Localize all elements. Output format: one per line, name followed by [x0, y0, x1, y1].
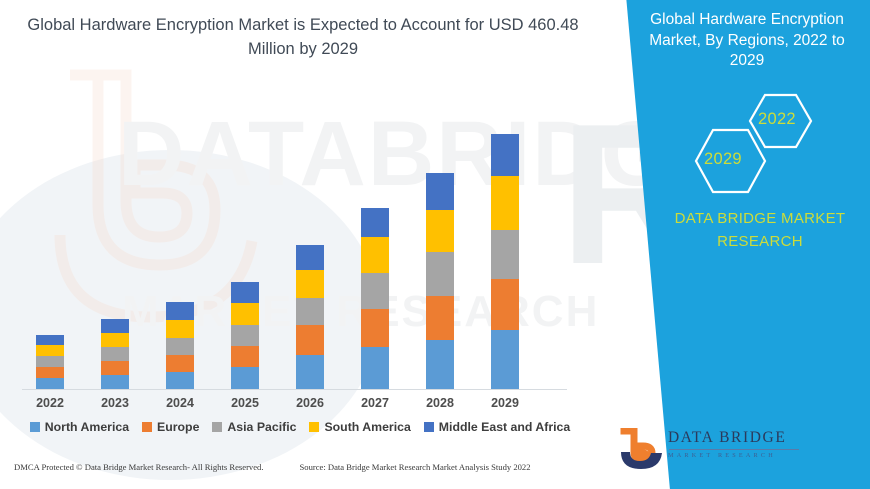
panel-title: Global Hardware Encryption Market, By Re… [632, 10, 862, 72]
bar-segment-2025-middle-east-and-africa[interactable] [231, 282, 259, 303]
bar-segment-2028-middle-east-and-africa[interactable] [426, 173, 454, 210]
bar-segment-2028-south-america[interactable] [426, 210, 454, 252]
chart-plot-area: 2022 2023 2024 2025 2026 2027 2028 2029 [0, 0, 600, 489]
bar-segment-2029-europe[interactable] [491, 279, 519, 330]
bar-segment-2025-europe[interactable] [231, 346, 259, 367]
bar-segment-2023-north-america[interactable] [101, 375, 129, 389]
databridge-logo[interactable]: DATA BRIDGE MARKET RESEARCH [618, 428, 818, 474]
x-tick-2027: 2027 [345, 396, 405, 410]
logo-text-block: DATA BRIDGE MARKET RESEARCH [668, 430, 799, 459]
bar-segment-2024-asia-pacific[interactable] [166, 338, 194, 355]
hexagon-outlines-icon [668, 88, 848, 198]
legend-item-europe[interactable]: Europe [142, 420, 199, 434]
bar-segment-2029-middle-east-and-africa[interactable] [491, 134, 519, 176]
legend-label: South America [324, 420, 410, 434]
footer: DMCA Protected © Data Bridge Market Rese… [0, 462, 600, 472]
bar-segment-2023-asia-pacific[interactable] [101, 347, 129, 361]
bar-segment-2025-south-america[interactable] [231, 303, 259, 325]
x-tick-2028: 2028 [410, 396, 470, 410]
footer-source: Source: Data Bridge Market Research Mark… [300, 462, 531, 472]
bar-column-2026[interactable] [296, 245, 324, 389]
bar-segment-2022-europe[interactable] [36, 367, 64, 378]
bar-segment-2024-middle-east-and-africa[interactable] [166, 302, 194, 320]
x-tick-2023: 2023 [85, 396, 145, 410]
bar-segment-2027-north-america[interactable] [361, 347, 389, 389]
footer-copyright: DMCA Protected © Data Bridge Market Rese… [14, 462, 264, 472]
logo-divider [669, 449, 799, 450]
legend-swatch-icon [142, 422, 152, 432]
bar-segment-2027-middle-east-and-africa[interactable] [361, 208, 389, 237]
legend-item-north-america[interactable]: North America [30, 420, 129, 434]
bar-segment-2028-europe[interactable] [426, 296, 454, 340]
legend-swatch-icon [212, 422, 222, 432]
infographic-canvas: DATABRIDGE MARKET RESEARCH R Global Hard… [0, 0, 870, 489]
legend-label: Asia Pacific [227, 420, 296, 434]
x-tick-2025: 2025 [215, 396, 275, 410]
bar-segment-2029-south-america[interactable] [491, 176, 519, 230]
bar-segment-2025-asia-pacific[interactable] [231, 325, 259, 346]
legend-label: Europe [157, 420, 199, 434]
legend-item-south-america[interactable]: South America [309, 420, 410, 434]
x-tick-2026: 2026 [280, 396, 340, 410]
x-tick-2024: 2024 [150, 396, 210, 410]
bar-column-2022[interactable] [36, 335, 64, 389]
databridge-mark-icon [618, 428, 666, 472]
bar-segment-2027-south-america[interactable] [361, 237, 389, 273]
legend-item-asia-pacific[interactable]: Asia Pacific [212, 420, 296, 434]
bar-segment-2022-south-america[interactable] [36, 345, 64, 356]
bar-segment-2022-north-america[interactable] [36, 378, 64, 389]
bar-segment-2027-asia-pacific[interactable] [361, 273, 389, 309]
bar-segment-2023-south-america[interactable] [101, 333, 129, 347]
hexagon-right-label: 2022 [758, 110, 796, 129]
panel-brand-line1: DATA BRIDGE MARKET [650, 208, 870, 231]
bar-segment-2022-asia-pacific[interactable] [36, 356, 64, 367]
bar-segment-2023-europe[interactable] [101, 361, 129, 375]
bar-segment-2024-south-america[interactable] [166, 320, 194, 338]
bar-segment-2024-north-america[interactable] [166, 372, 194, 389]
logo-name: DATA BRIDGE [668, 430, 799, 446]
legend-swatch-icon [30, 422, 40, 432]
bar-segment-2026-south-america[interactable] [296, 270, 324, 298]
chart-legend: North AmericaEuropeAsia PacificSouth Ame… [0, 420, 600, 434]
bar-segment-2024-europe[interactable] [166, 355, 194, 372]
bar-column-2029[interactable] [491, 134, 519, 389]
bar-segment-2025-north-america[interactable] [231, 367, 259, 389]
bar-segment-2028-north-america[interactable] [426, 340, 454, 389]
bar-segment-2022-middle-east-and-africa[interactable] [36, 335, 64, 345]
bar-column-2025[interactable] [231, 282, 259, 389]
legend-label: Middle East and Africa [439, 420, 570, 434]
x-axis-line [22, 389, 567, 390]
bar-segment-2023-middle-east-and-africa[interactable] [101, 319, 129, 333]
legend-swatch-icon [424, 422, 434, 432]
bar-segment-2029-asia-pacific[interactable] [491, 230, 519, 279]
bar-segment-2027-europe[interactable] [361, 309, 389, 347]
bar-column-2028[interactable] [426, 173, 454, 389]
bar-segment-2026-asia-pacific[interactable] [296, 298, 324, 325]
panel-brand-line2: RESEARCH [650, 231, 870, 254]
legend-swatch-icon [309, 422, 319, 432]
x-tick-2022: 2022 [20, 396, 80, 410]
legend-label: North America [45, 420, 129, 434]
legend-item-middle-east-and-africa[interactable]: Middle East and Africa [424, 420, 570, 434]
bar-column-2024[interactable] [166, 302, 194, 389]
hexagon-left-label: 2029 [704, 150, 742, 169]
logo-tagline: MARKET RESEARCH [668, 452, 799, 459]
panel-brand-name: DATA BRIDGE MARKET RESEARCH [650, 208, 870, 253]
bar-segment-2026-north-america[interactable] [296, 355, 324, 389]
bar-column-2023[interactable] [101, 319, 129, 389]
bar-segment-2026-middle-east-and-africa[interactable] [296, 245, 324, 270]
bar-segment-2028-asia-pacific[interactable] [426, 252, 454, 296]
bar-column-2027[interactable] [361, 208, 389, 389]
hexagon-group: 2022 2029 [668, 88, 848, 198]
x-tick-2029: 2029 [475, 396, 535, 410]
bar-segment-2026-europe[interactable] [296, 325, 324, 355]
bar-segment-2029-north-america[interactable] [491, 330, 519, 389]
